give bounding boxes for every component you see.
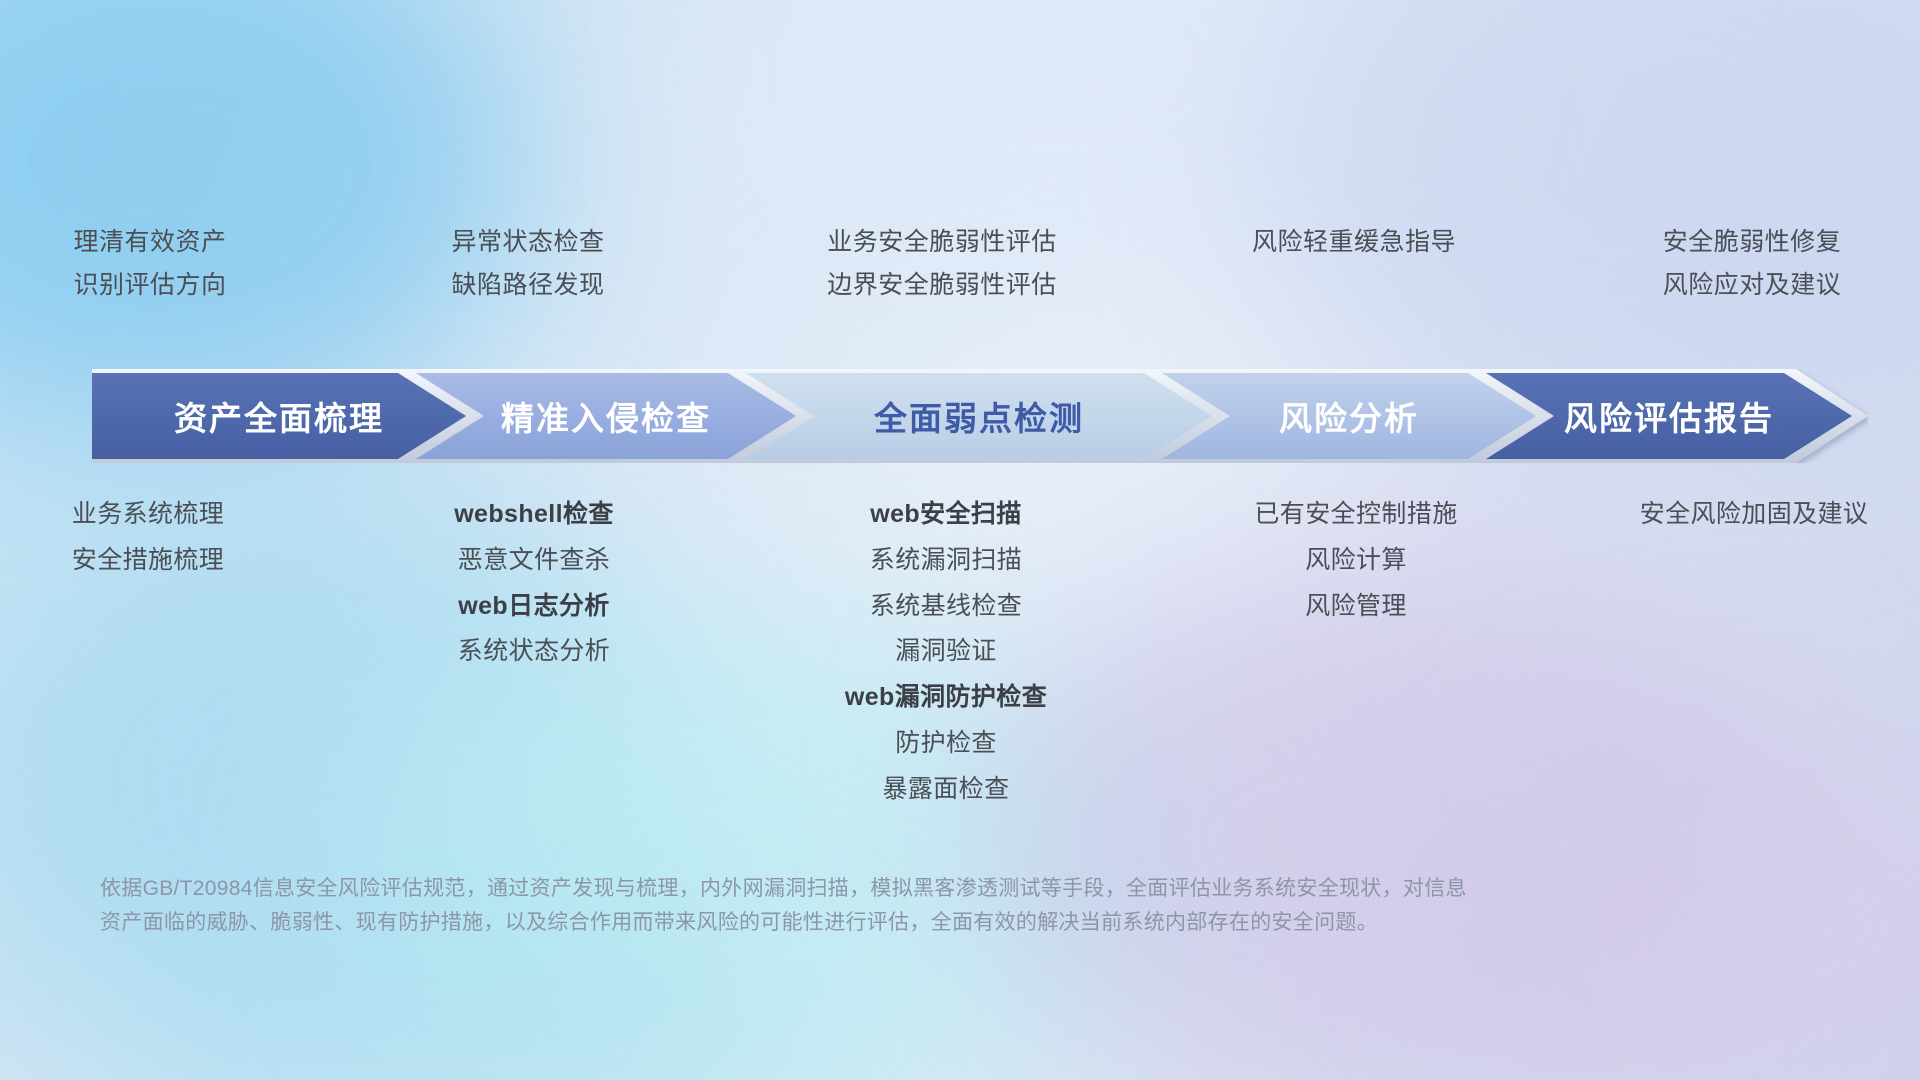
bottom-descriptor-line: 恶意文件查杀 xyxy=(458,546,610,575)
bottom-descriptor-line: 系统基线检查 xyxy=(870,592,1022,621)
stage-bottom-descriptors: 业务系统梳理 安全措施梳理 webshell检查 恶意文件查杀 web日志分析 … xyxy=(0,500,1920,803)
bottom-descriptor-line: 风险管理 xyxy=(1305,592,1407,621)
stage-chevron-risk-analysis[interactable]: 风险分析 xyxy=(1162,369,1536,463)
top-descriptor-line: 缺陷路径发现 xyxy=(451,271,604,300)
bottom-descriptor-line: 安全措施梳理 xyxy=(72,546,224,575)
bottom-descriptor-group-weakness-detection: web安全扫描 系统漏洞扫描 系统基线检查 漏洞验证 web漏洞防护检查 防护检… xyxy=(754,500,1138,803)
bottom-descriptor-line: 已有安全控制措施 xyxy=(1254,500,1457,529)
stage-top-descriptors: 理清有效资产 识别评估方向 异常状态检查 缺陷路径发现 业务安全脆弱性评估 边界… xyxy=(0,228,1920,338)
bottom-descriptor-line: 暴露面检查 xyxy=(882,775,1009,804)
bottom-descriptor-line: 系统状态分析 xyxy=(458,637,610,666)
top-descriptor-line: 业务安全脆弱性评估 xyxy=(827,228,1057,257)
footer-note: 依据GB/T20984信息安全风险评估规范，通过资产发现与梳理，内外网漏洞扫描，… xyxy=(100,872,1660,940)
top-descriptor-line: 风险应对及建议 xyxy=(1663,271,1842,300)
stage-title: 全面弱点检测 xyxy=(874,392,1084,440)
bottom-descriptor-line: web日志分析 xyxy=(458,592,609,621)
stage-title: 资产全面梳理 xyxy=(174,392,384,440)
stage-chevron-asset-inventory[interactable]: 资产全面梳理 xyxy=(92,369,466,463)
bottom-descriptor-line: 防护检查 xyxy=(895,729,997,758)
footer-note-line: 依据GB/T20984信息安全风险评估规范，通过资产发现与梳理，内外网漏洞扫描，… xyxy=(100,872,1660,906)
bottom-descriptor-group-risk-report: 安全风险加固及建议 xyxy=(1562,500,1920,803)
bottom-descriptor-line: 安全风险加固及建议 xyxy=(1640,500,1869,529)
bottom-descriptor-line: 系统漏洞扫描 xyxy=(870,546,1022,575)
top-descriptor-line: 风险轻重缓急指导 xyxy=(1252,228,1456,257)
bottom-descriptor-group-intrusion-check: webshell检查 恶意文件查杀 web日志分析 系统状态分析 xyxy=(342,500,726,803)
top-descriptor-line: 识别评估方向 xyxy=(73,271,226,300)
footer-note-line: 资产面临的威胁、脆弱性、现有防护措施，以及综合作用而带来风险的可能性进行评估，全… xyxy=(100,906,1660,940)
stage-chevron-intrusion-check[interactable]: 精准入侵检查 xyxy=(416,369,796,463)
process-diagram: 理清有效资产 识别评估方向 异常状态检查 缺陷路径发现 业务安全脆弱性评估 边界… xyxy=(0,0,1920,1080)
bottom-descriptor-line: 风险计算 xyxy=(1305,546,1407,575)
top-descriptor-group-weakness-detection: 业务安全脆弱性评估 边界安全脆弱性评估 xyxy=(750,228,1134,338)
top-descriptor-line: 理清有效资产 xyxy=(73,228,226,257)
bottom-descriptor-line: 业务系统梳理 xyxy=(72,500,224,529)
top-descriptor-group-risk-analysis: 风险轻重缓急指导 xyxy=(1162,228,1546,338)
bottom-descriptor-line: 漏洞验证 xyxy=(895,637,997,666)
bottom-descriptor-line: web漏洞防护检查 xyxy=(845,683,1047,712)
process-chevron-band: 资产全面梳理 精准入侵检查 全面弱点检测 风险分析 风险评估报告 xyxy=(92,369,1868,463)
bottom-descriptor-group-risk-analysis: 已有安全控制措施 风险计算 风险管理 xyxy=(1164,500,1548,803)
stage-title: 风险分析 xyxy=(1279,392,1419,440)
stage-title: 精准入侵检查 xyxy=(501,392,711,440)
top-descriptor-group-intrusion-check: 异常状态检查 缺陷路径发现 xyxy=(336,228,720,338)
bottom-descriptor-line: webshell检查 xyxy=(454,500,614,529)
top-descriptor-group-risk-report: 安全脆弱性修复 风险应对及建议 xyxy=(1560,228,1920,338)
stage-chevron-weakness-detection[interactable]: 全面弱点检测 xyxy=(746,369,1212,463)
top-descriptor-group-asset-inventory: 理清有效资产 识别评估方向 xyxy=(0,228,342,338)
bottom-descriptor-group-asset-inventory: 业务系统梳理 安全措施梳理 xyxy=(0,500,340,803)
top-descriptor-line: 异常状态检查 xyxy=(451,228,604,257)
top-descriptor-line: 安全脆弱性修复 xyxy=(1663,228,1842,257)
bottom-descriptor-line: web安全扫描 xyxy=(870,500,1021,529)
top-descriptor-line: 边界安全脆弱性评估 xyxy=(827,271,1057,300)
stage-chevron-risk-report[interactable]: 风险评估报告 xyxy=(1486,369,1852,463)
stage-title: 风险评估报告 xyxy=(1564,392,1774,440)
